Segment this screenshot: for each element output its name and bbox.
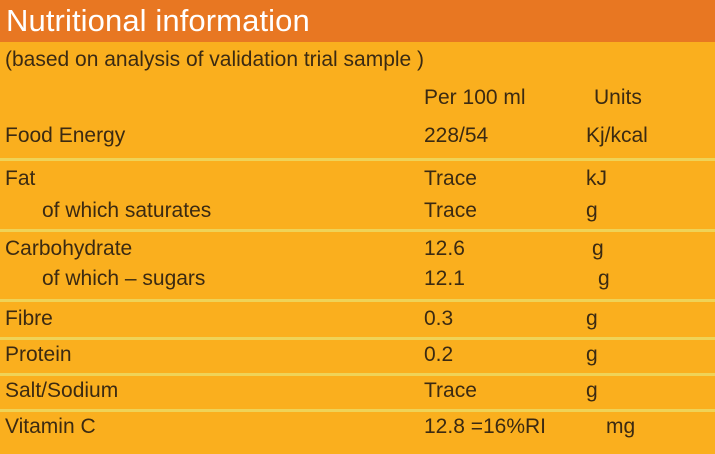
- row-unit: g: [586, 377, 598, 405]
- row-value: Trace: [424, 377, 477, 405]
- row-separator: [0, 337, 715, 340]
- column-header-units: Units: [594, 84, 642, 112]
- row-separator: [0, 158, 715, 161]
- row-label: Vitamin C: [5, 413, 96, 441]
- row-value: Trace: [424, 197, 477, 225]
- row-unit: g: [586, 197, 598, 225]
- row-label: Fibre: [5, 305, 53, 333]
- row-value: 12.6: [424, 235, 465, 263]
- row-label: Protein: [5, 341, 72, 369]
- subtitle: (based on analysis of validation trial s…: [5, 47, 424, 73]
- row-label: Fat: [5, 165, 35, 193]
- row-label: of which saturates: [42, 197, 211, 225]
- column-header-per-100ml: Per 100 ml: [424, 84, 526, 112]
- row-value: 12.8 =16%RI: [424, 413, 546, 441]
- row-separator: [0, 409, 715, 412]
- row-unit: kJ: [586, 165, 607, 193]
- nutrition-panel: Nutritional information (based on analys…: [0, 0, 715, 454]
- page-title: Nutritional information: [6, 2, 310, 40]
- row-separator: [0, 373, 715, 376]
- row-unit: g: [586, 341, 598, 369]
- row-value: Trace: [424, 165, 477, 193]
- row-unit: g: [592, 235, 604, 263]
- row-unit: g: [586, 305, 598, 333]
- row-value: 0.3: [424, 305, 453, 333]
- row-label: of which – sugars: [42, 265, 205, 293]
- row-separator: [0, 229, 715, 232]
- row-value: 12.1: [424, 265, 465, 293]
- row-label: Food Energy: [5, 122, 125, 150]
- row-separator: [0, 299, 715, 302]
- row-unit: g: [598, 265, 610, 293]
- row-value: 0.2: [424, 341, 453, 369]
- row-label: Carbohydrate: [5, 235, 132, 263]
- row-unit: mg: [606, 413, 635, 441]
- row-unit: Kj/kcal: [586, 122, 648, 150]
- row-value: 228/54: [424, 122, 488, 150]
- row-label: Salt/Sodium: [5, 377, 118, 405]
